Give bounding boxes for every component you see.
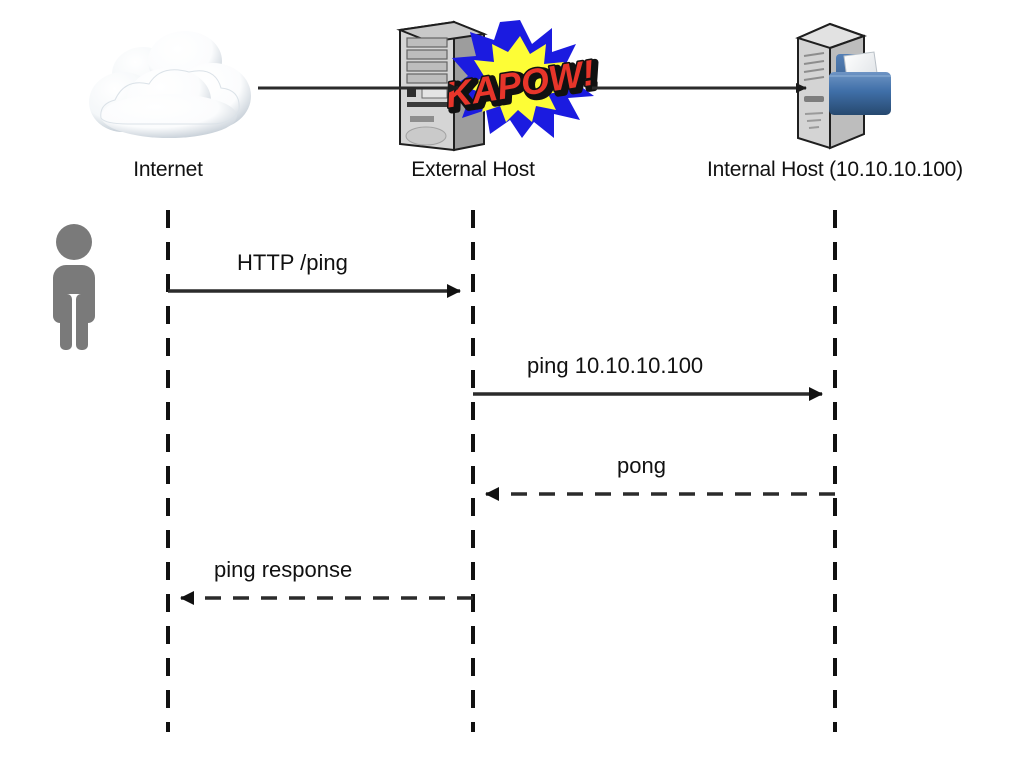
sequence-diagram-canvas: KAPOW! KAPOW! (0, 0, 1024, 768)
actor-label-internet: Internet (68, 158, 268, 182)
message-label-pong: pong (617, 453, 666, 479)
message-label-ping-response: ping response (214, 557, 352, 583)
message-label-ping-ip: ping 10.10.10.100 (527, 353, 703, 379)
message-label-http-ping: HTTP /ping (237, 250, 348, 276)
diagram-vector-layer (0, 0, 1024, 768)
actor-label-internal-host: Internal Host (10.10.10.100) (655, 158, 1015, 182)
actor-label-external-host: External Host (373, 158, 573, 182)
